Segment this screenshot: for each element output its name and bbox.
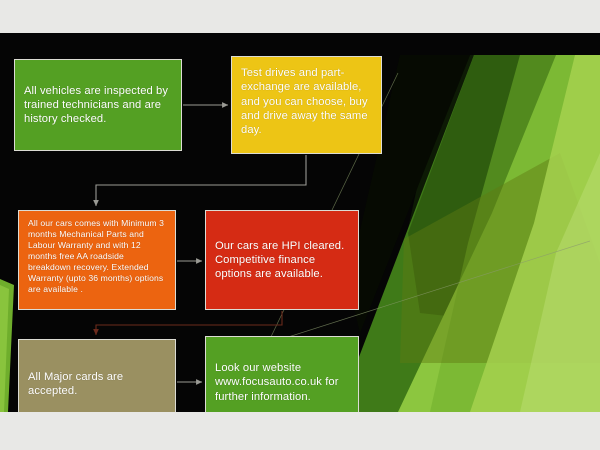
flow-node-inspection[interactable]: All vehicles are inspected by trained te… xyxy=(14,59,182,151)
flow-node-warranty[interactable]: All our cars comes with Minimum 3 months… xyxy=(18,210,176,310)
flow-node-warranty-label: All our cars comes with Minimum 3 months… xyxy=(28,218,166,295)
flow-node-website-label: Look our website www.focusauto.co.uk for… xyxy=(215,361,349,404)
flow-node-cards-accepted-label: All Major cards are accepted. xyxy=(28,370,166,399)
slide-stage: All vehicles are inspected by trained te… xyxy=(0,0,600,450)
flow-node-test-drive-label: Test drives and part-exchange are availa… xyxy=(241,66,372,138)
flow-node-website[interactable]: Look our website www.focusauto.co.uk for… xyxy=(205,336,359,412)
flow-node-hpi-cleared[interactable]: Our cars are HPI cleared. Competitive fi… xyxy=(205,210,359,310)
flow-node-test-drive[interactable]: Test drives and part-exchange are availa… xyxy=(231,56,382,154)
flow-node-cards-accepted[interactable]: All Major cards are accepted. xyxy=(18,339,176,412)
flow-node-inspection-label: All vehicles are inspected by trained te… xyxy=(24,84,172,127)
flow-node-hpi-cleared-label: Our cars are HPI cleared. Competitive fi… xyxy=(215,239,349,282)
slide-canvas: All vehicles are inspected by trained te… xyxy=(0,33,600,412)
